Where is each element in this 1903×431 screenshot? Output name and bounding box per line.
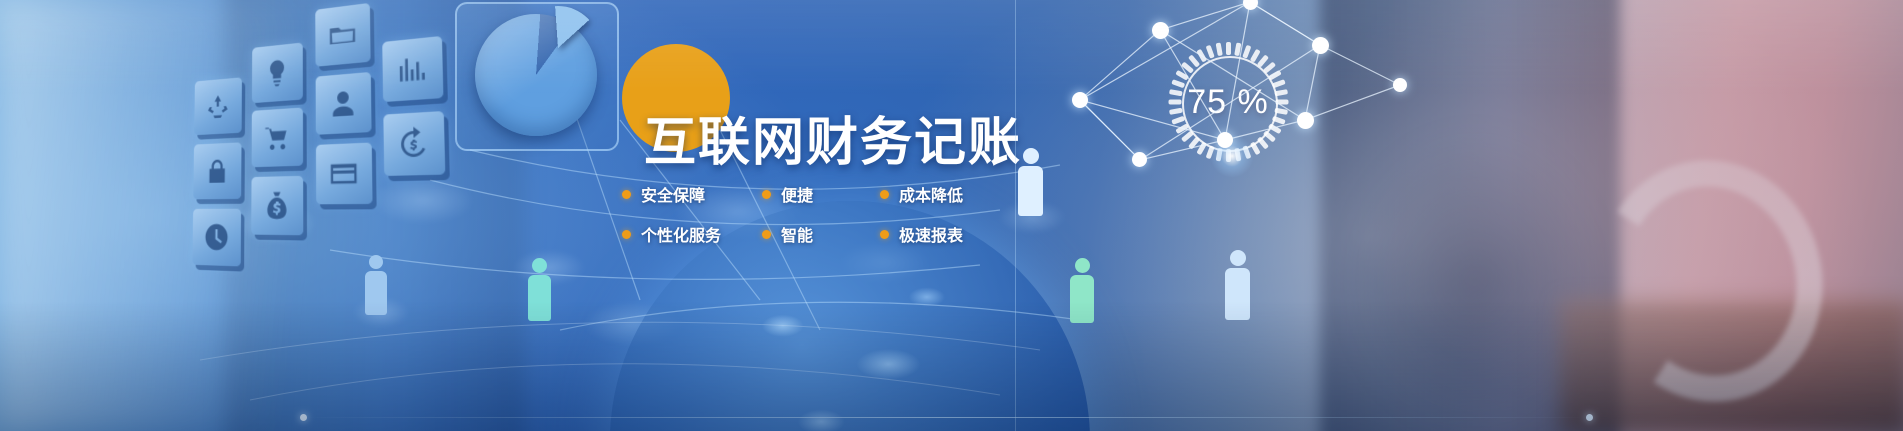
vignette-overlay <box>0 0 1903 431</box>
banner-root: 互联网财务记账 安全保障 便捷 成本降低 个性化服务 智能 <box>0 0 1903 431</box>
